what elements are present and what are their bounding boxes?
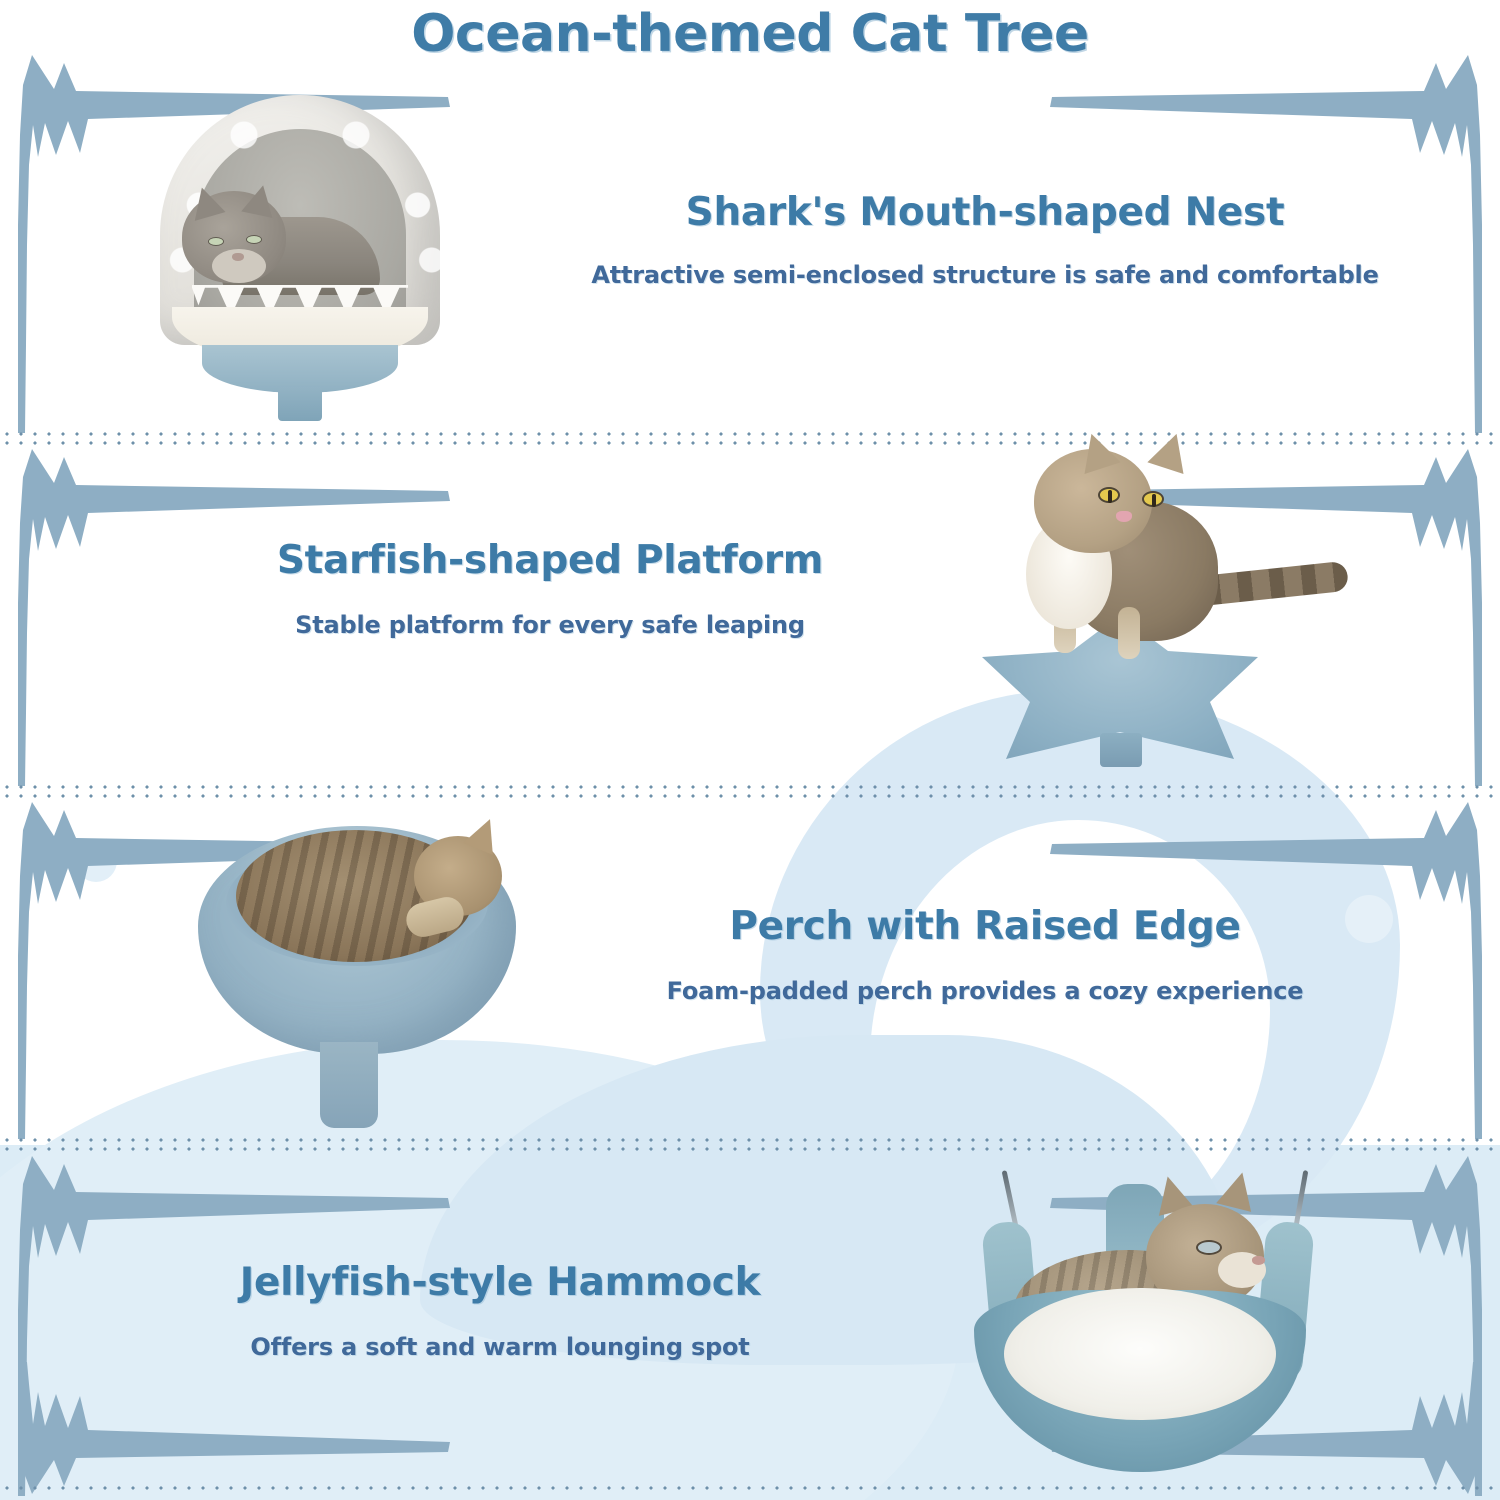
corner-bracket-bottom-left [18,1360,458,1500]
product-image-hammock [930,1160,1360,1490]
cat-leg-right [1118,607,1140,659]
feature-text-shark-nest: Shark's Mouth-shaped Nest Attractive sem… [560,190,1410,289]
hammock-fleece-inner [1004,1288,1276,1420]
cat-head [182,191,286,283]
feature-subtitle: Attractive semi-enclosed structure is sa… [560,261,1410,289]
cat-eye-left [208,237,224,246]
product-image-perch [192,796,522,1136]
feature-text-starfish: Starfish-shaped Platform Stable platform… [90,538,1010,639]
feature-panel-starfish: Starfish-shaped Platform Stable platform… [0,443,1500,788]
cat-ear-right [1216,1168,1260,1212]
cat-on-platform [990,443,1270,673]
cat-eye [1196,1240,1222,1255]
cat-eye-right [1142,491,1164,507]
feature-subtitle: Stable platform for every safe leaping [90,611,1010,639]
cat-eye-left [1098,487,1120,503]
cat-ear-right [1147,428,1194,474]
feature-panel-shark-nest: Shark's Mouth-shaped Nest Attractive sem… [0,45,1500,435]
product-image-shark-nest [150,95,450,415]
feature-title: Jellyfish-style Hammock [60,1260,940,1305]
feature-subtitle: Foam-padded perch provides a cozy experi… [560,977,1410,1005]
feature-text-perch: Perch with Raised Edge Foam-padded perch… [560,904,1410,1005]
cat-ear-right [241,182,279,218]
starfish-support-post [1100,733,1142,767]
cat-in-nest [176,177,376,297]
cat-ear-left [186,183,225,221]
cat-nose [1252,1256,1265,1265]
perch-support-post [320,1042,378,1128]
infographic-page: Ocean-themed Cat Tree [0,0,1500,1500]
panel-divider-bottom [0,1486,1500,1500]
cat-eye-right [246,235,262,244]
nest-plush-base [202,345,398,393]
feature-title: Starfish-shaped Platform [90,538,1010,583]
feature-text-hammock: Jellyfish-style Hammock Offers a soft an… [60,1260,940,1361]
cat-nose [232,253,244,261]
cat-nose [1116,511,1132,522]
feature-title: Perch with Raised Edge [560,904,1410,949]
feature-subtitle: Offers a soft and warm lounging spot [60,1333,940,1361]
feature-panel-hammock: Jellyfish-style Hammock Offers a soft an… [0,1150,1500,1498]
nest-support-post [278,387,322,421]
cat-ear-left [1073,428,1120,474]
cat-head [1034,449,1152,553]
feature-panel-perch: Perch with Raised Edge Foam-padded perch… [0,796,1500,1141]
feature-title: Shark's Mouth-shaped Nest [560,190,1410,235]
